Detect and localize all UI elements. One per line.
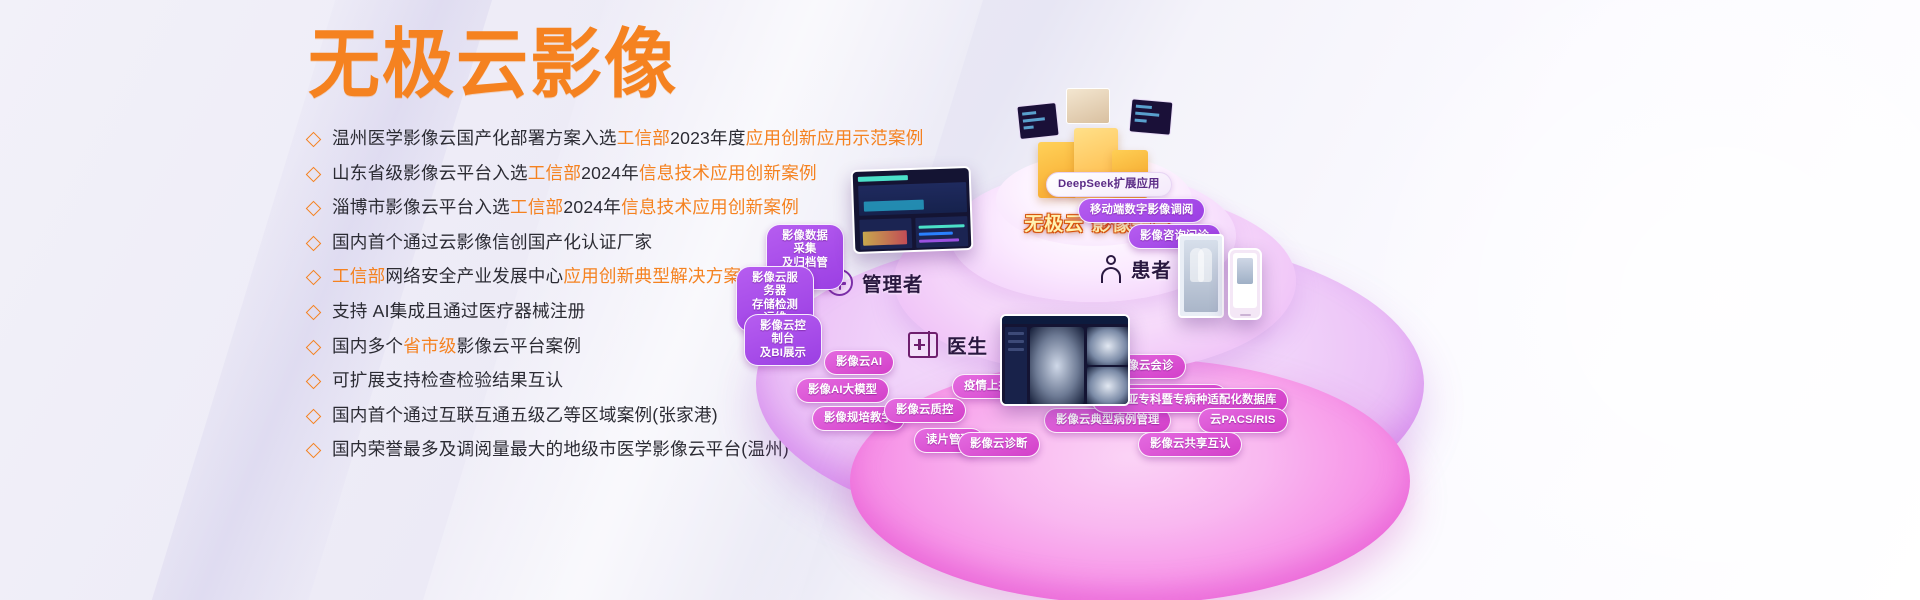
feature-pill-cloudai[interactable]: 影像云AI — [824, 350, 894, 375]
diamond-bullet-icon — [306, 201, 322, 217]
role-marker-doctor[interactable]: 医生 — [908, 330, 988, 359]
medical-case-icon — [908, 332, 938, 358]
diamond-bullet-icon — [306, 132, 322, 148]
achievement-item-label: 国内首个通过互联互通五级乙等区域案例(张家港) — [332, 403, 718, 427]
diamond-bullet-icon — [306, 339, 322, 355]
diamond-bullet-icon — [306, 270, 322, 286]
achievement-item-label: 国内多个省市级影像云平台案例 — [332, 334, 581, 358]
xray-image-mockup — [1178, 234, 1224, 318]
achievement-item-label: 支持 AI集成且通过医疗器械注册 — [332, 299, 585, 323]
platform-diagram: 无极云 影像平台 管理者 医生 患者 — [700, 96, 1920, 600]
mini-screen-right — [1129, 98, 1174, 136]
role-label-patient: 患者 — [1131, 254, 1172, 283]
feature-pill-mutual[interactable]: 影像云共享互认 — [1138, 432, 1242, 457]
mini-screen-center — [1066, 88, 1110, 124]
achievement-item-label: 可扩展支持检查检验结果互认 — [332, 368, 563, 392]
text-column: 无极云影像 温州医学影像云国产化部署方案入选工信部2023年度应用创新应用示范案… — [0, 0, 790, 600]
feature-pill-diagnosis[interactable]: 影像云诊断 — [958, 432, 1040, 457]
diamond-bullet-icon — [306, 374, 322, 390]
mobile-phone-mockup — [1228, 248, 1262, 320]
feature-pill-console[interactable]: 影像云控制台 及BI展示 — [744, 314, 822, 366]
diamond-bullet-icon — [306, 408, 322, 424]
banner-root: 无极云影像 温州医学影像云国产化部署方案入选工信部2023年度应用创新应用示范案… — [0, 0, 1920, 600]
mini-screen-left — [1016, 102, 1059, 140]
role-label-admin: 管理者 — [862, 268, 924, 297]
feature-pill-mobile[interactable]: 移动端数字影像调阅 — [1078, 198, 1205, 223]
role-marker-patient[interactable]: 患者 — [1100, 254, 1172, 283]
feature-pill-deepseek[interactable]: DeepSeek扩展应用 — [1046, 172, 1172, 197]
person-icon — [1100, 255, 1122, 283]
achievement-item-label: 国内首个通过云影像信创国产化认证厂家 — [332, 230, 652, 254]
diamond-bullet-icon — [306, 166, 322, 182]
page-title: 无极云影像 — [308, 26, 678, 102]
feature-pill-quality[interactable]: 影像云质控 — [884, 398, 966, 423]
diamond-bullet-icon — [306, 305, 322, 321]
diamond-bullet-icon — [306, 236, 322, 252]
achievement-item-label: 工信部网络安全产业发展中心应用创新典型解决方案 — [332, 264, 741, 288]
feature-pill-aimodel[interactable]: 影像AI大模型 — [796, 378, 889, 403]
diamond-bullet-icon — [306, 443, 322, 459]
dashboard-mockup — [851, 166, 974, 254]
pacs-viewer-mockup — [1000, 314, 1130, 406]
feature-pill-pacsris[interactable]: 云PACS/RIS — [1198, 408, 1288, 433]
role-label-doctor: 医生 — [947, 330, 988, 359]
